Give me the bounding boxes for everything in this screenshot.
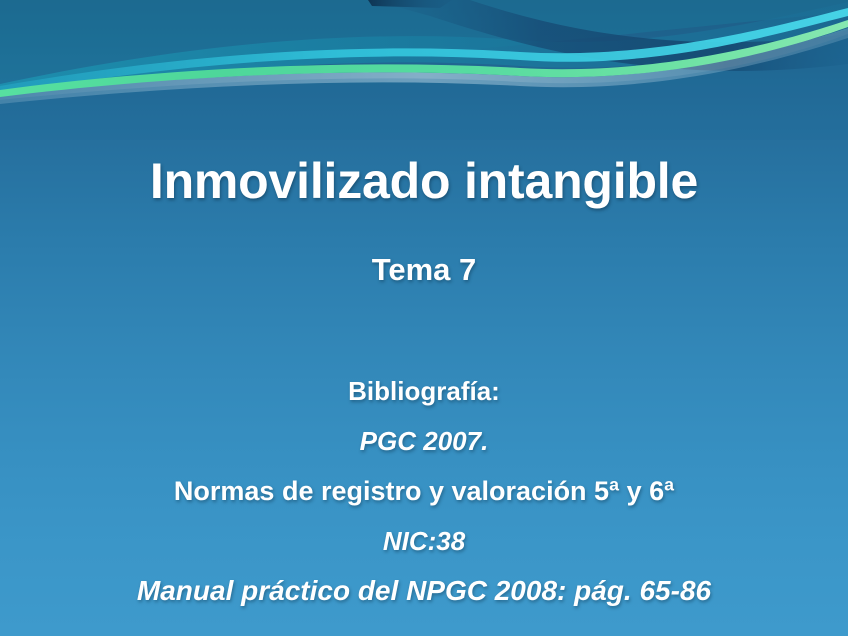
bibliography-heading: Bibliografía: [0, 366, 848, 416]
bibliography-entry: NIC:38 [0, 516, 848, 566]
bibliography-entry: Normas de registro y valoración 5ª y 6ª [0, 466, 848, 516]
bibliography-entry: Manual práctico del NPGC 2008: pág. 65-8… [0, 566, 848, 616]
slide-content: Inmovilizado intangible Tema 7 Bibliogra… [0, 0, 848, 636]
page-title: Inmovilizado intangible [0, 152, 848, 210]
slide-subtitle: Tema 7 [0, 252, 848, 288]
presentation-slide: Inmovilizado intangible Tema 7 Bibliogra… [0, 0, 848, 636]
bibliography-block: Bibliografía: PGC 2007. Normas de regist… [0, 366, 848, 616]
bibliography-entry: PGC 2007. [0, 416, 848, 466]
